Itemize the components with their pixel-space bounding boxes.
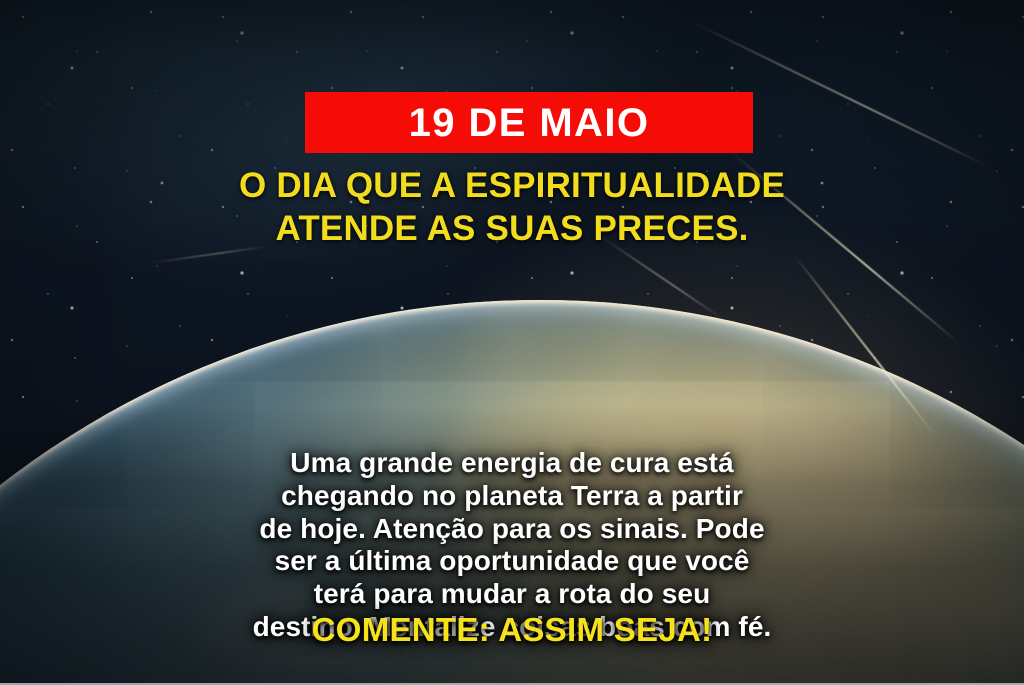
- poster-root: 19 DE MAIO O DIA QUE A ESPIRITUALIDADE A…: [0, 0, 1024, 685]
- poster-content: 19 DE MAIO O DIA QUE A ESPIRITUALIDADE A…: [0, 0, 1024, 685]
- call-to-action-text: COMENTE: ASSIM SEJA!: [0, 613, 1024, 646]
- headline-line-2: ATENDE AS SUAS PRECES.: [40, 208, 984, 251]
- body-copy-line-1: Uma grande energia de cura está: [44, 447, 980, 480]
- date-banner-label: 19 DE MAIO: [409, 103, 650, 143]
- body-copy-line-5: terá para mudar a rota do seu: [44, 578, 980, 611]
- headline: O DIA QUE A ESPIRITUALIDADE ATENDE AS SU…: [0, 165, 1024, 250]
- date-banner: 19 DE MAIO: [305, 92, 753, 153]
- headline-line-1: O DIA QUE A ESPIRITUALIDADE: [40, 165, 984, 208]
- body-copy-line-4: ser a última oportunidade que você: [44, 545, 980, 578]
- body-copy-line-2: chegando no planeta Terra a partir: [44, 480, 980, 513]
- body-copy-line-3: de hoje. Atenção para os sinais. Pode: [44, 513, 980, 546]
